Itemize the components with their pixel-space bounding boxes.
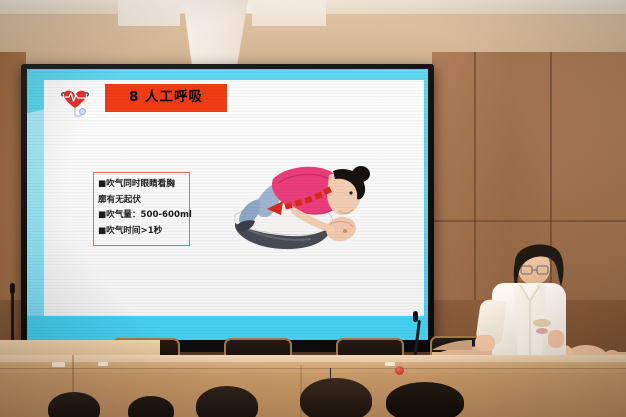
bullet-line: ■吹气时间>1秒 — [98, 224, 186, 240]
red-ball — [395, 366, 404, 375]
slide-bottom-accent-strip — [27, 316, 428, 340]
glasses-icon — [520, 264, 550, 276]
bullet-line: 廓有无起伏 — [98, 193, 186, 209]
table-card — [98, 362, 108, 366]
slide-title-banner: 8 人工呼吸 — [105, 84, 227, 112]
photo-scene: 8 人工呼吸 ■吹气同时眼睛看胸 廓有无起伏 ■吹气量：500-600ml ■吹… — [0, 0, 626, 417]
table-card — [385, 362, 395, 366]
audience-head — [300, 378, 372, 417]
rescue-breathing-illustration — [233, 157, 373, 257]
table-card — [52, 362, 65, 367]
slide-title-text: 8 人工呼吸 — [129, 91, 203, 105]
ceiling-soffit-right — [252, 0, 326, 26]
bullet-line: ■吹气同时眼睛看胸 — [98, 177, 186, 193]
presentation-slide: 8 人工呼吸 ■吹气同时眼睛看胸 廓有无起伏 ■吹气量：500-600ml ■吹… — [27, 69, 428, 340]
slide-bullet-box: ■吹气同时眼睛看胸 廓有无起伏 ■吹气量：500-600ml ■吹气时间>1秒 — [93, 172, 190, 246]
heart-stethoscope-logo — [55, 81, 95, 123]
bullet-line: ■吹气量：500-600ml — [98, 208, 186, 224]
audience-head — [386, 382, 464, 417]
ceiling-soffit-left — [118, 0, 180, 26]
